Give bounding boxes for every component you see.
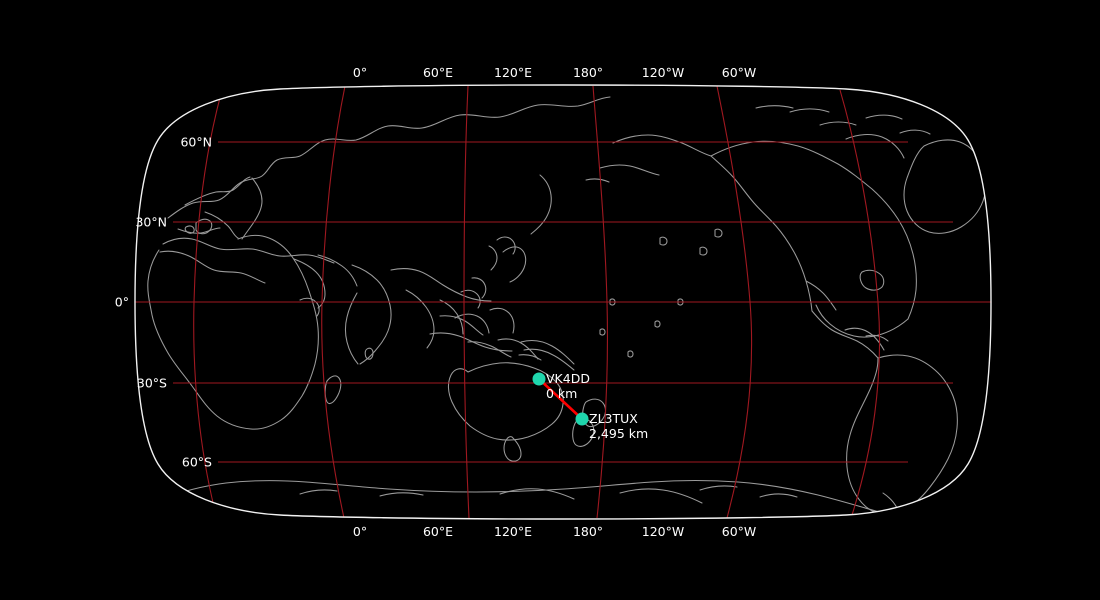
lon-tick-bottom-4: 120°W [642, 524, 684, 539]
lon-tick-bottom-0: 0° [353, 524, 367, 539]
lat-tick-60n: 60°N [120, 135, 212, 150]
destination-callsign: ZL3TUX [589, 411, 638, 426]
lon-tick-bottom-1: 60°E [423, 524, 453, 539]
lon-tick-bottom-3: 180° [573, 524, 603, 539]
station-label-origin: VK4DD 0 km [546, 372, 590, 401]
destination-distance: 2,495 km [589, 427, 648, 442]
lon-tick-top-1: 60°E [423, 65, 453, 80]
station-marker-destination[interactable] [576, 413, 589, 426]
map-background [0, 0, 1100, 600]
lon-tick-top-4: 120°W [642, 65, 684, 80]
lon-tick-top-2: 120°E [494, 65, 532, 80]
map-svg [0, 0, 1100, 600]
origin-distance: 0 km [546, 387, 590, 402]
lat-tick-60s: 60°S [120, 455, 212, 470]
lon-tick-top-5: 60°W [722, 65, 757, 80]
lat-tick-30n: 30°N [75, 215, 167, 230]
lon-tick-top-3: 180° [573, 65, 603, 80]
lat-tick-0: 0° [37, 295, 129, 310]
map-canvas[interactable]: 0° 60°E 120°E 180° 120°W 60°W 0° 60°E 12… [0, 0, 1100, 600]
lon-tick-top-0: 0° [353, 65, 367, 80]
station-label-destination: ZL3TUX 2,495 km [589, 412, 648, 441]
origin-callsign: VK4DD [546, 371, 590, 386]
map-figure: Robinson Projection QG62 to RE66HO (140°… [0, 0, 1100, 600]
station-marker-origin[interactable] [533, 373, 546, 386]
lat-tick-30s: 30°S [75, 376, 167, 391]
lon-tick-bottom-2: 120°E [494, 524, 532, 539]
lon-tick-bottom-5: 60°W [722, 524, 757, 539]
